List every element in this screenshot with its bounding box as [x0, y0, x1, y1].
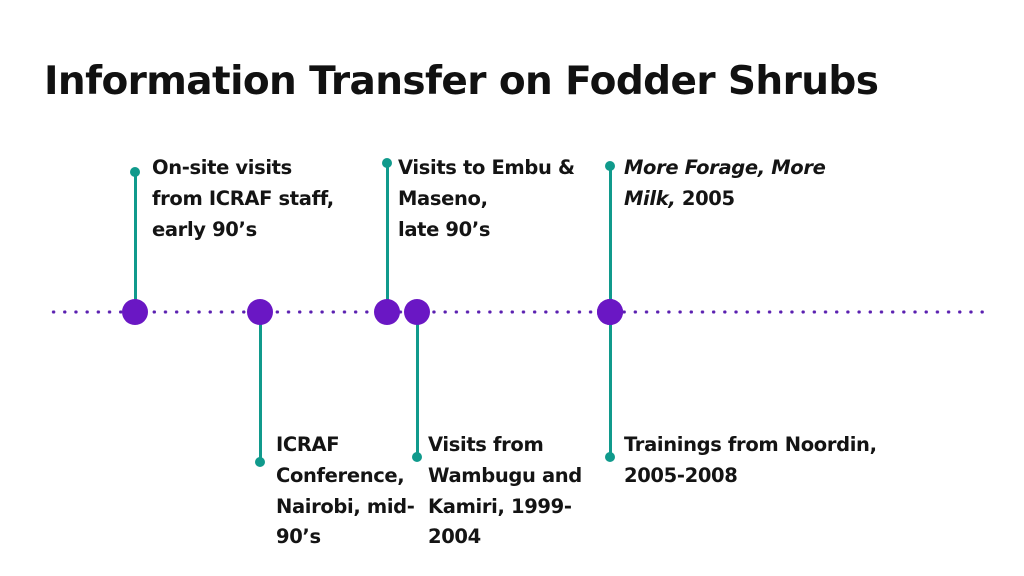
timeline-label-text: 2004	[428, 525, 481, 548]
timeline-label-line: early 90’s	[152, 215, 334, 246]
timeline-label-text: 2005-2008	[624, 464, 738, 487]
slide-canvas: Information Transfer on Fodder Shrubs On…	[0, 0, 1024, 576]
timeline-label-on-site-visits: On-site visitsfrom ICRAF staff,early 90’…	[152, 153, 334, 245]
dotted-timeline-axis	[48, 310, 985, 314]
timeline-stem-tip-more-forage-more-milk	[605, 161, 615, 171]
timeline-label-line: from ICRAF staff,	[152, 184, 334, 215]
timeline-label-line: Nairobi, mid-	[276, 492, 415, 523]
timeline-label-line: Kamiri, 1999-	[428, 492, 582, 523]
timeline-label-line: Visits to Embu &	[398, 153, 575, 184]
timeline-label-text: Wambugu and	[428, 464, 582, 487]
timeline-label-line: Milk, 2005	[624, 184, 826, 215]
timeline-label-visits-embu-maseno: Visits to Embu &Maseno,late 90’s	[398, 153, 575, 245]
timeline-node-icraf-conference[interactable]	[247, 299, 273, 325]
timeline-label-year: 2005	[675, 187, 734, 210]
timeline-label-trainings-noordin: Trainings from Noordin,2005-2008	[624, 430, 877, 492]
timeline-stem-visits-wambugu-kamiri	[416, 312, 419, 457]
timeline-label-text: 90’s	[276, 525, 321, 548]
timeline-node-visits-wambugu-kamiri[interactable]	[404, 299, 430, 325]
timeline-label-text: Milk,	[624, 187, 675, 210]
timeline-label-line: Conference,	[276, 461, 415, 492]
timeline-label-text: Conference,	[276, 464, 404, 487]
timeline-label-text: Kamiri, 1999-	[428, 495, 572, 518]
timeline-node-visits-embu-maseno[interactable]	[374, 299, 400, 325]
timeline-node-trainings-noordin[interactable]	[597, 299, 623, 325]
timeline-label-line: late 90’s	[398, 215, 575, 246]
timeline-label-text: Visits to Embu &	[398, 156, 575, 179]
timeline-label-text: Trainings from Noordin,	[624, 433, 877, 456]
timeline-label-text: ICRAF	[276, 433, 339, 456]
timeline-stem-trainings-noordin	[609, 312, 612, 457]
timeline-stem-tip-trainings-noordin	[605, 452, 615, 462]
timeline-stem-tip-visits-wambugu-kamiri	[412, 452, 422, 462]
timeline-stem-more-forage-more-milk	[609, 166, 612, 312]
timeline-label-line: Maseno,	[398, 184, 575, 215]
timeline-label-text: early 90’s	[152, 218, 257, 241]
timeline-stem-tip-icraf-conference	[255, 457, 265, 467]
timeline-label-line: 90’s	[276, 522, 415, 553]
timeline-label-line: 2005-2008	[624, 461, 877, 492]
timeline-label-line: On-site visits	[152, 153, 334, 184]
timeline-stem-tip-visits-embu-maseno	[382, 158, 392, 168]
timeline-label-text: Visits from	[428, 433, 543, 456]
timeline-label-line: Visits from	[428, 430, 582, 461]
timeline-label-line: Trainings from Noordin,	[624, 430, 877, 461]
timeline-label-text: late 90’s	[398, 218, 490, 241]
timeline-label-text: Nairobi, mid-	[276, 495, 415, 518]
timeline-stem-visits-embu-maseno	[386, 163, 389, 312]
timeline-label-text: More Forage, More	[624, 156, 826, 179]
timeline-stem-on-site-visits	[134, 172, 137, 312]
timeline-label-text: from ICRAF staff,	[152, 187, 334, 210]
timeline-label-text: On-site visits	[152, 156, 292, 179]
timeline-label-icraf-conference: ICRAFConference,Nairobi, mid-90’s	[276, 430, 415, 553]
timeline-label-visits-wambugu-kamiri: Visits fromWambugu andKamiri, 1999-2004	[428, 430, 582, 553]
timeline-label-text: Maseno,	[398, 187, 488, 210]
timeline-label-line: ICRAF	[276, 430, 415, 461]
timeline-stem-tip-on-site-visits	[130, 167, 140, 177]
timeline-label-line: 2004	[428, 522, 582, 553]
timeline-label-line: Wambugu and	[428, 461, 582, 492]
timeline-stem-icraf-conference	[259, 312, 262, 462]
timeline-label-more-forage-more-milk: More Forage, MoreMilk, 2005	[624, 153, 826, 215]
timeline-node-on-site-visits[interactable]	[122, 299, 148, 325]
timeline-label-line: More Forage, More	[624, 153, 826, 184]
page-title: Information Transfer on Fodder Shrubs	[44, 60, 944, 104]
